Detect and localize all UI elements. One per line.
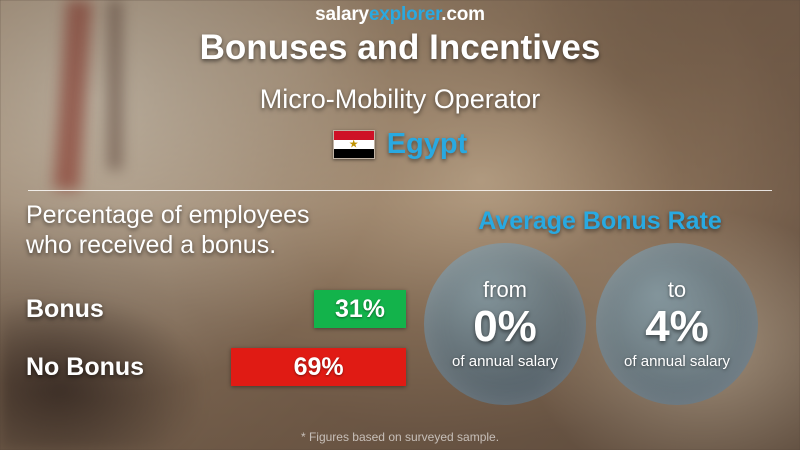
section-divider <box>28 190 772 191</box>
logo-text-explorer: explorer <box>369 4 441 25</box>
egypt-flag-icon: ★ <box>333 130 375 159</box>
country-name: Egypt <box>387 128 468 161</box>
bar-track-bonus: 31% <box>176 290 406 328</box>
bar-fill-no-bonus: 69% <box>231 348 406 386</box>
country-row: ★ Egypt <box>0 128 800 161</box>
bonus-rate-to-word: to <box>668 278 686 302</box>
job-title: Micro-Mobility Operator <box>0 84 800 115</box>
page-title: Bonuses and Incentives <box>0 28 800 68</box>
bar-value-bonus: 31% <box>335 295 385 324</box>
bonus-rate-to-note: of annual salary <box>624 353 730 370</box>
logo-text-salary: salary <box>315 4 369 25</box>
bar-label-no-bonus: No Bonus <box>26 353 176 382</box>
bar-label-bonus: Bonus <box>26 295 176 324</box>
infographic-page: salaryexplorer.com Bonuses and Incentive… <box>0 0 800 450</box>
bonus-rate-to-bubble: to 4% of annual salary <box>596 243 758 405</box>
eagle-emblem-icon: ★ <box>348 139 359 150</box>
bonus-rate-to-value: 4% <box>645 303 709 351</box>
left-panel-heading-line1: Percentage of employees <box>26 200 426 230</box>
bonus-rate-from-value: 0% <box>473 303 537 351</box>
flag-band-black <box>334 149 374 158</box>
footnote: * Figures based on surveyed sample. <box>0 430 800 444</box>
bar-row: Bonus 31% <box>26 290 406 328</box>
logo-text-domain: .com <box>441 4 485 25</box>
bonus-rate-from-bubble: from 0% of annual salary <box>424 243 586 405</box>
right-panel-title: Average Bonus Rate <box>420 207 780 236</box>
bar-value-no-bonus: 69% <box>294 353 344 382</box>
site-logo: salaryexplorer.com <box>0 4 800 26</box>
bar-fill-bonus: 31% <box>314 290 406 328</box>
bar-track-no-bonus: 69% <box>176 348 406 386</box>
bar-row: No Bonus 69% <box>26 348 406 386</box>
bonus-rate-from-note: of annual salary <box>452 353 558 370</box>
left-panel-heading: Percentage of employees who received a b… <box>26 200 426 260</box>
bonus-rate-from-word: from <box>483 278 527 302</box>
left-panel-heading-line2: who received a bonus. <box>26 230 426 260</box>
